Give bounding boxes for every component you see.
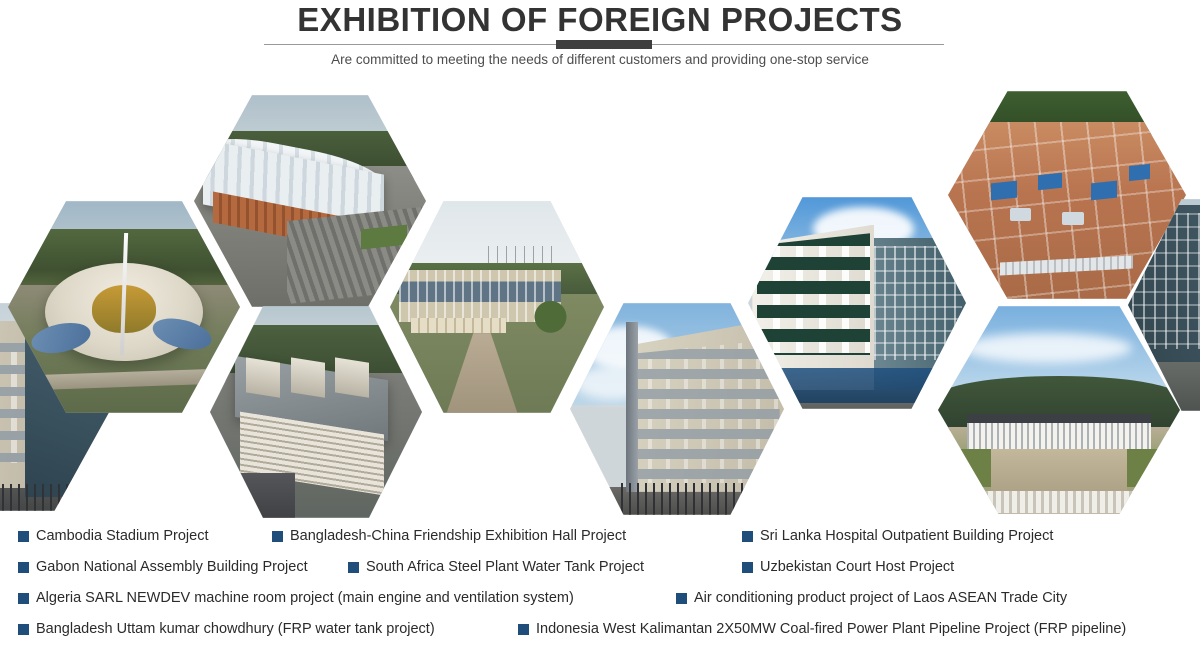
legend-bullet-icon [742,531,753,542]
hex-image-sri-lanka-hospital [748,194,966,412]
project-image-gallery [0,0,1200,525]
hex-tile-south-africa-water-tank[interactable] [210,303,422,521]
legend-item-label: Gabon National Assembly Building Project [36,558,308,576]
legend-bullet-icon [18,593,29,604]
legend-item-label: South Africa Steel Plant Water Tank Proj… [366,558,644,576]
exhibition-poster: EXHIBITION OF FOREIGN PROJECTS Are commi… [0,0,1200,650]
legend-item-label: Bangladesh-China Friendship Exhibition H… [290,527,626,545]
legend-item-label: Cambodia Stadium Project [36,527,208,545]
legend-item-label: Sri Lanka Hospital Outpatient Building P… [760,527,1053,545]
legend-item-label: Algeria SARL NEWDEV machine room project… [36,589,574,607]
legend-item[interactable]: Indonesia West Kalimantan 2X50MW Coal-fi… [518,615,1126,643]
legend-bullet-icon [348,562,359,573]
hex-tile-gabon-national-assembly[interactable] [390,198,604,416]
hex-tile-uzbekistan-court[interactable] [570,300,784,518]
legend-item[interactable]: Bangladesh-China Friendship Exhibition H… [272,522,626,550]
legend-item[interactable]: Bangladesh Uttam kumar chowdhury (FRP wa… [18,615,435,643]
hex-tile-bangladesh-china-hall[interactable] [194,92,426,310]
legend-bullet-icon [272,531,283,542]
hex-tile-sri-lanka-hospital[interactable] [748,194,966,412]
legend-item[interactable]: Uzbekistan Court Host Project [742,553,954,581]
legend-bullet-icon [18,562,29,573]
legend-bullet-icon [18,531,29,542]
legend-bullet-icon [676,593,687,604]
legend-bullet-icon [742,562,753,573]
legend-item-label: Air conditioning product project of Laos… [694,589,1067,607]
legend-item[interactable]: Sri Lanka Hospital Outpatient Building P… [742,522,1053,550]
hex-image-south-africa-water-tank [210,303,422,521]
hex-image-bangladesh-china-hall [194,92,426,310]
legend-item[interactable]: Air conditioning product project of Laos… [676,584,1067,612]
hex-image-gabon-national-assembly [390,198,604,416]
legend-item[interactable]: South Africa Steel Plant Water Tank Proj… [348,553,644,581]
legend-bullet-icon [518,624,529,635]
legend-item[interactable]: Cambodia Stadium Project [18,522,208,550]
legend-bullet-icon [18,624,29,635]
legend-item[interactable]: Gabon National Assembly Building Project [18,553,308,581]
legend-row: Cambodia Stadium Project Bangladesh-Chin… [0,522,1200,550]
legend-item[interactable]: Algeria SARL NEWDEV machine room project… [18,584,574,612]
legend-item-label: Bangladesh Uttam kumar chowdhury (FRP wa… [36,620,435,638]
legend-item-label: Indonesia West Kalimantan 2X50MW Coal-fi… [536,620,1126,638]
legend-row: Algeria SARL NEWDEV machine room project… [0,584,1200,612]
hex-image-uzbekistan-court [570,300,784,518]
project-legend: Cambodia Stadium Project Bangladesh-Chin… [0,522,1200,650]
legend-item-label: Uzbekistan Court Host Project [760,558,954,576]
legend-row: Gabon National Assembly Building Project… [0,553,1200,581]
legend-row: Bangladesh Uttam kumar chowdhury (FRP wa… [0,615,1200,643]
